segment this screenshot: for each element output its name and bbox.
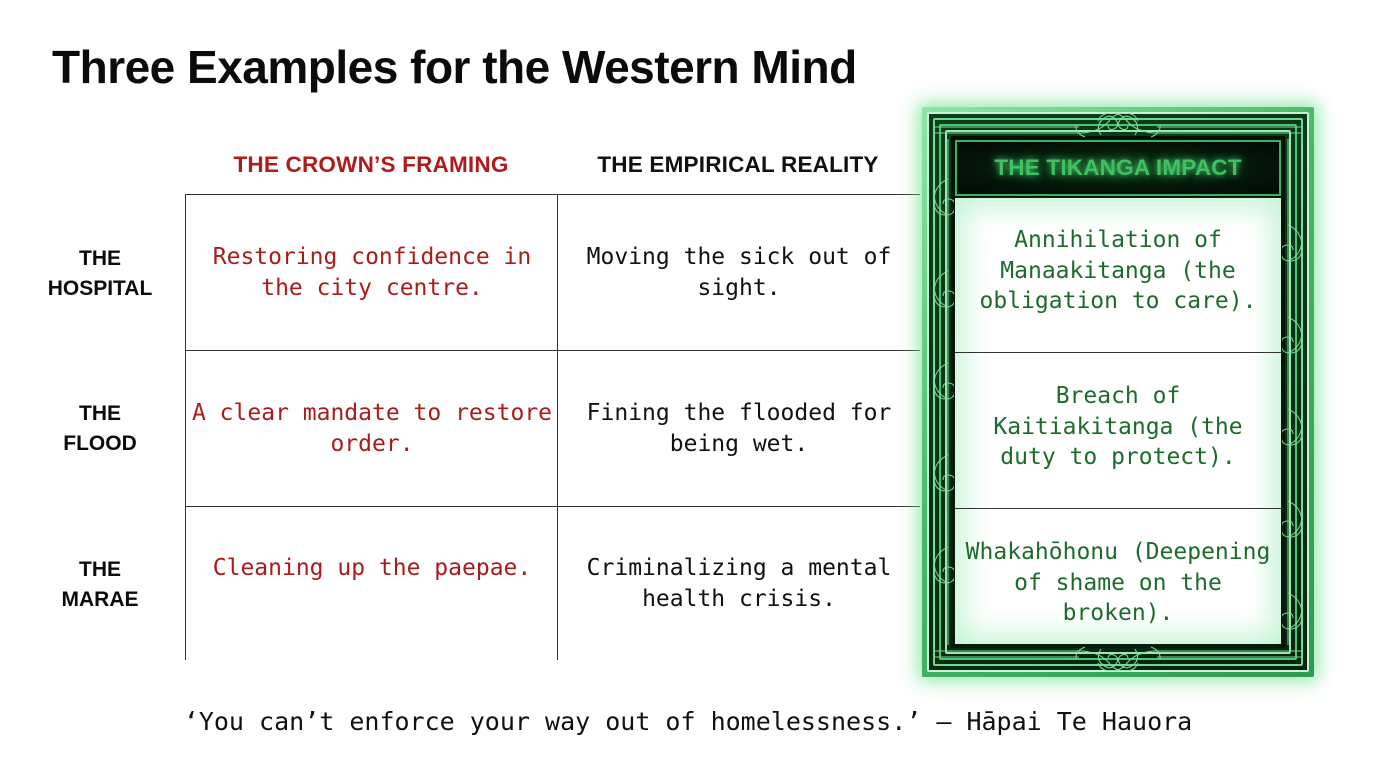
table-cell-crown-hospital: Restoring confidence in the city centre. (190, 242, 554, 303)
table-cell-empirical-flood: Fining the flooded for being wet. (562, 398, 916, 459)
grid-vertical-divider (557, 195, 558, 660)
tikanga-divider-1 (955, 352, 1281, 353)
tikanga-content-panel: Annihilation of Manaakitanga (the obliga… (955, 198, 1281, 644)
table-cell-tikanga-flood: Breach of Kaitiakitanga (the duty to pro… (965, 381, 1271, 473)
table-cell-tikanga-marae: Whakahōhonu (Deepening of shame on the b… (965, 537, 1271, 629)
table-cell-empirical-hospital: Moving the sick out of sight. (562, 242, 916, 303)
table-cell-tikanga-hospital: Annihilation of Manaakitanga (the obliga… (965, 225, 1271, 317)
column-header-crowns-framing: THE CROWN’S FRAMING (186, 152, 556, 178)
tikanga-header-bar: THE TIKANGA IMPACT (955, 140, 1281, 196)
grid-horizontal-divider-2 (186, 506, 920, 507)
grid-horizontal-divider-1 (186, 350, 920, 351)
page-title: Three Examples for the Western Mind (52, 40, 857, 94)
tikanga-divider-2 (955, 508, 1281, 509)
column-header-tikanga-impact: THE TIKANGA IMPACT (994, 155, 1241, 181)
column-header-empirical-reality: THE EMPIRICAL REALITY (558, 152, 918, 178)
row-label-flood: THE FLOOD (20, 399, 180, 460)
row-label-hospital: THE HOSPITAL (20, 244, 180, 305)
table-cell-crown-flood: A clear mandate to restore order. (190, 398, 554, 459)
table-cell-crown-marae: Cleaning up the paepae. (190, 553, 554, 584)
row-label-marae: THE MARAE (20, 555, 180, 616)
footer-quote: ‘You can’t enforce your way out of homel… (0, 707, 1376, 736)
table-cell-empirical-marae: Criminalizing a mental health crisis. (562, 553, 916, 614)
tikanga-impact-frame: THE TIKANGA IMPACT Annihilation of Manaa… (918, 103, 1318, 681)
